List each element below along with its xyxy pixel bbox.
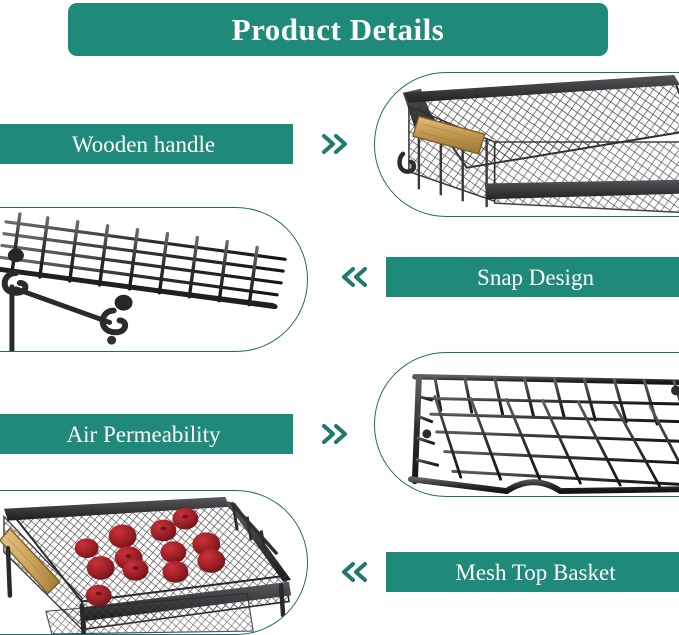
feature-label-text: Wooden handle [62,133,225,156]
mesh-top-basket-illustration [0,491,307,634]
feature-label-band-snap-design: Snap Design [386,257,679,297]
feature-row-mesh-top-basket: Mesh Top Basket [0,490,679,635]
page-title: Product Details [232,14,445,45]
wooden-handle-illustration [375,73,679,216]
chevron-double-left-icon [333,552,373,592]
photo-air-permeability [374,352,679,497]
header-banner: Product Details [68,3,608,56]
feature-label-text: Mesh Top Basket [445,561,625,584]
photo-mesh-top-basket [0,490,308,635]
air-permeability-illustration [375,353,679,496]
photo-wooden-handle [374,72,679,217]
feature-label-text: Air Permeability [57,423,231,446]
feature-label-band-air-permeability: Air Permeability [0,414,293,454]
chevron-double-left-icon [333,257,373,297]
feature-row-air-permeability: Air Permeability [0,352,679,497]
feature-row-snap-design: Snap Design [0,207,679,352]
snap-design-illustration [0,208,307,351]
feature-label-band-wooden-handle: Wooden handle [0,124,293,164]
feature-row-wooden-handle: Wooden handle [0,72,679,217]
feature-label-text: Snap Design [467,266,604,289]
feature-label-band-mesh-top-basket: Mesh Top Basket [386,552,679,592]
photo-snap-design [0,207,308,352]
chevron-double-right-icon [316,414,356,454]
chevron-double-right-icon [316,124,356,164]
